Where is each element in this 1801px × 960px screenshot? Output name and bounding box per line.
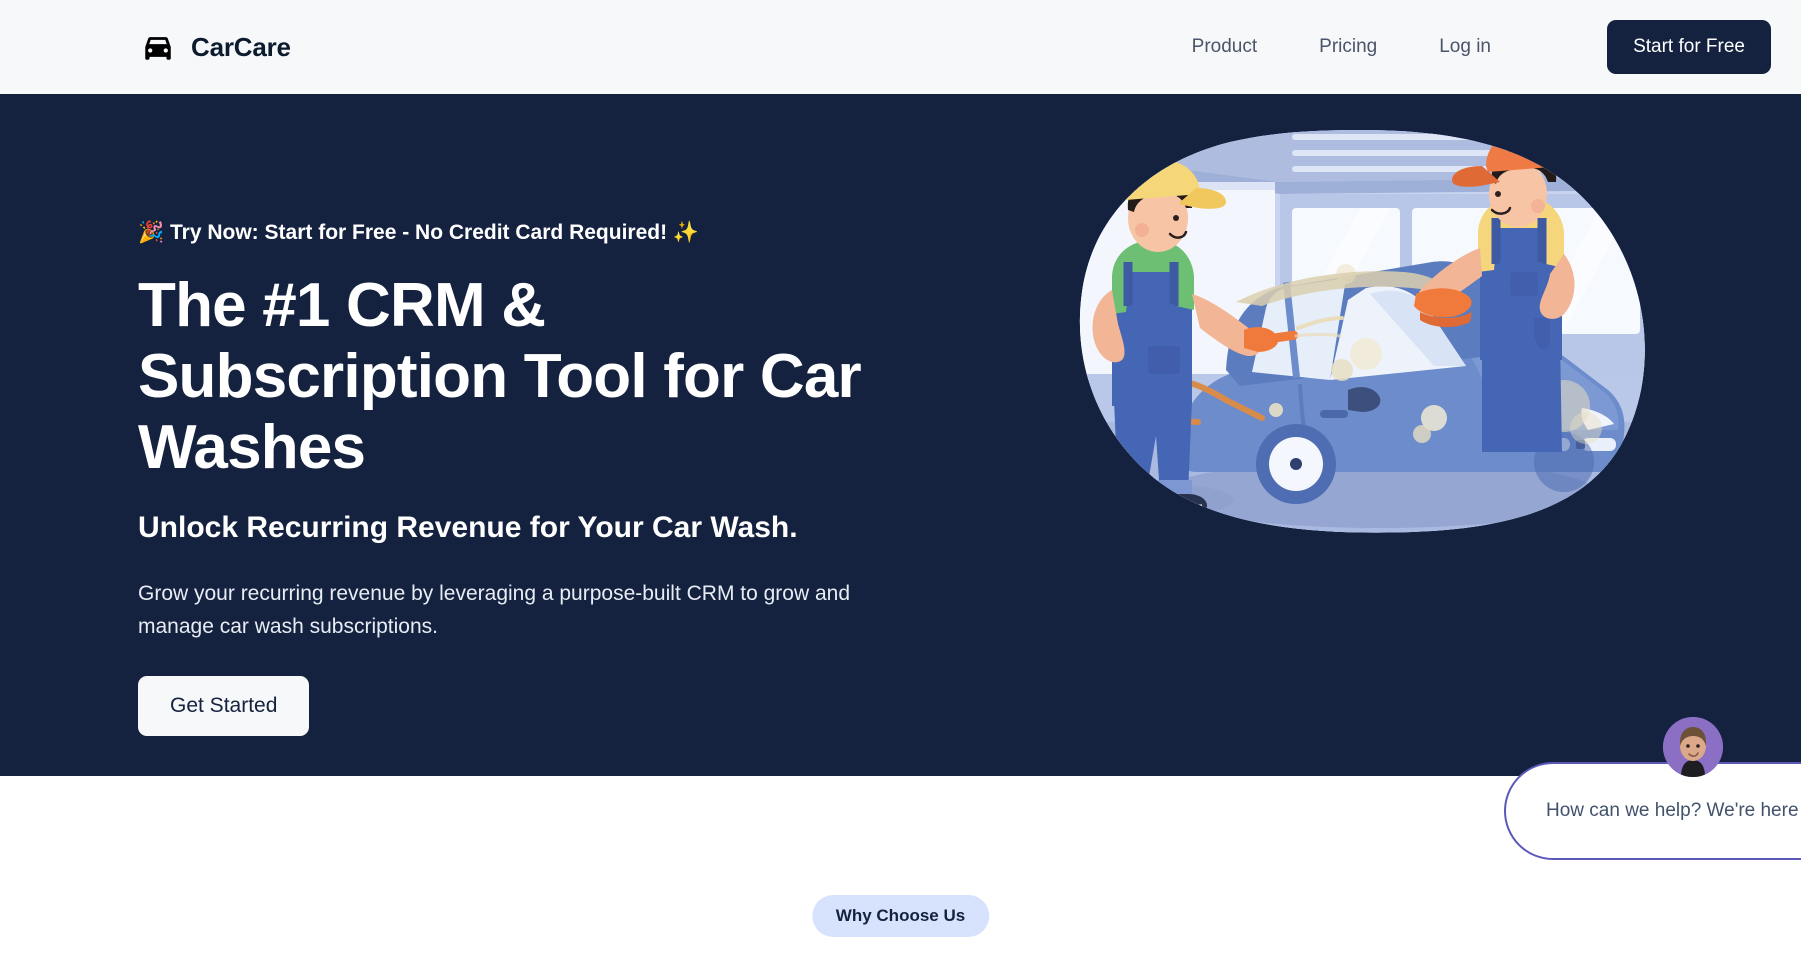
hero-promo-banner: 🎉 Try Now: Start for Free - No Credit Ca… (138, 220, 938, 245)
hero-body-text: Grow your recurring revenue by leveragin… (138, 577, 898, 644)
hero-section: 🎉 Try Now: Start for Free - No Credit Ca… (0, 94, 1801, 776)
hero-promo-strong: Start for Free (259, 221, 397, 244)
hero-title: The #1 CRM & Subscription Tool for Car W… (138, 271, 928, 483)
nav-link-login[interactable]: Log in (1439, 36, 1491, 58)
nav-link-pricing[interactable]: Pricing (1319, 36, 1377, 58)
hero-promo-lead: Try Now: (170, 221, 259, 244)
landing-page: CarCare Product Pricing Log in Start for… (0, 0, 1801, 960)
brand-logo[interactable]: CarCare (138, 27, 291, 67)
hero-copy: 🎉 Try Now: Start for Free - No Credit Ca… (138, 220, 938, 736)
chat-widget: How can we help? We're here for (1504, 762, 1801, 862)
hero-subtitle: Unlock Recurring Revenue for Your Car Wa… (138, 509, 938, 547)
start-for-free-button[interactable]: Start for Free (1607, 20, 1771, 74)
sparkles-icon: ✨ (673, 221, 699, 244)
chat-message-bubble[interactable]: How can we help? We're here for (1504, 762, 1801, 860)
car-wash-illustration (1030, 122, 1670, 542)
chat-message-text: How can we help? We're here for (1546, 800, 1801, 822)
brand-name: CarCare (191, 34, 291, 60)
party-popper-icon: 🎉 (138, 221, 164, 244)
why-choose-us-badge[interactable]: Why Choose Us (812, 895, 989, 937)
hero-promo-rest: - No Credit Card Required! (396, 221, 667, 244)
nav-link-product[interactable]: Product (1192, 36, 1257, 58)
support-agent-avatar[interactable] (1663, 717, 1723, 777)
site-header: CarCare Product Pricing Log in Start for… (0, 0, 1801, 94)
main-nav: Product Pricing Log in (1192, 36, 1491, 58)
get-started-button[interactable]: Get Started (138, 676, 309, 736)
car-icon (138, 27, 178, 67)
